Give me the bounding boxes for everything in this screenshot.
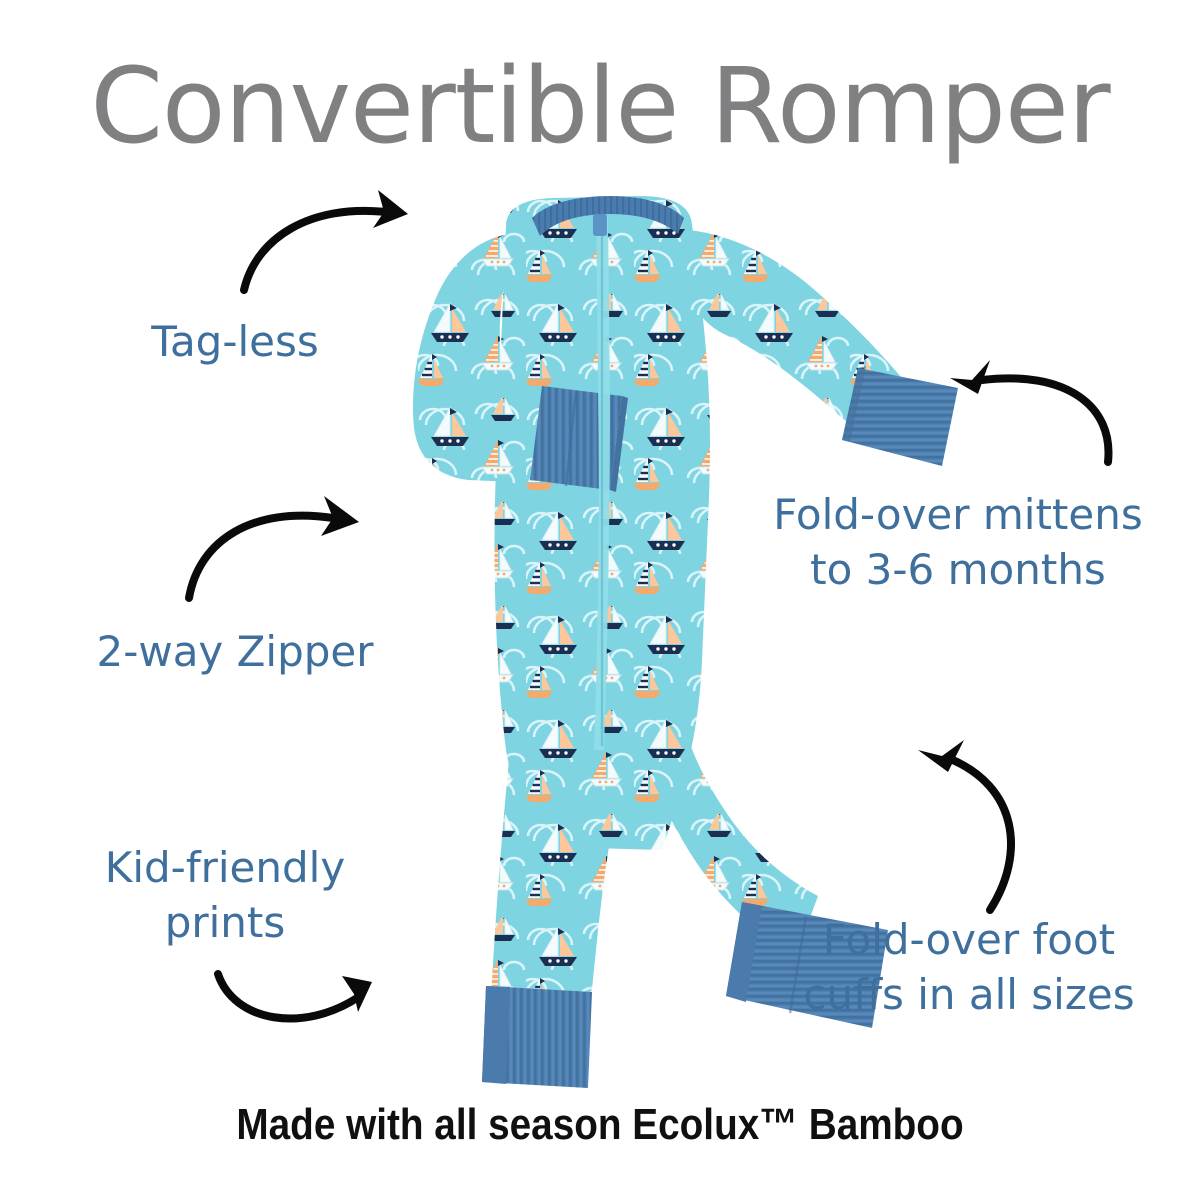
- feature-label-prints: Kid-friendly prints: [45, 840, 405, 951]
- arrow-to-print-icon: [212, 960, 382, 1040]
- arrow-to-zipper-icon: [183, 480, 378, 605]
- left-leg: [490, 750, 630, 1008]
- bottom-caption: Made with all season Ecolux™ Bamboo: [72, 1100, 1128, 1150]
- arrow-to-foot-cuff-icon: [912, 738, 1042, 918]
- feature-label-zipper: 2-way Zipper: [45, 624, 425, 679]
- feature-label-tagless: Tag-less: [55, 314, 415, 369]
- zipper-pull: [593, 214, 607, 236]
- feature-label-foot-cuffs: Fold-over foot cuffs in all sizes: [762, 912, 1176, 1023]
- right-mitten-cuff: [842, 366, 958, 466]
- arrow-to-neckline-icon: [236, 186, 436, 306]
- page-title: Convertible Romper: [0, 52, 1200, 161]
- arrow-to-mitten-icon: [948, 358, 1118, 468]
- left-foot-cuff: [482, 986, 592, 1088]
- left-mitten-cuff: [530, 386, 628, 492]
- feature-label-mittens: Fold-over mittens to 3-6 months: [742, 487, 1174, 598]
- infographic-canvas: Convertible Romper: [0, 0, 1200, 1200]
